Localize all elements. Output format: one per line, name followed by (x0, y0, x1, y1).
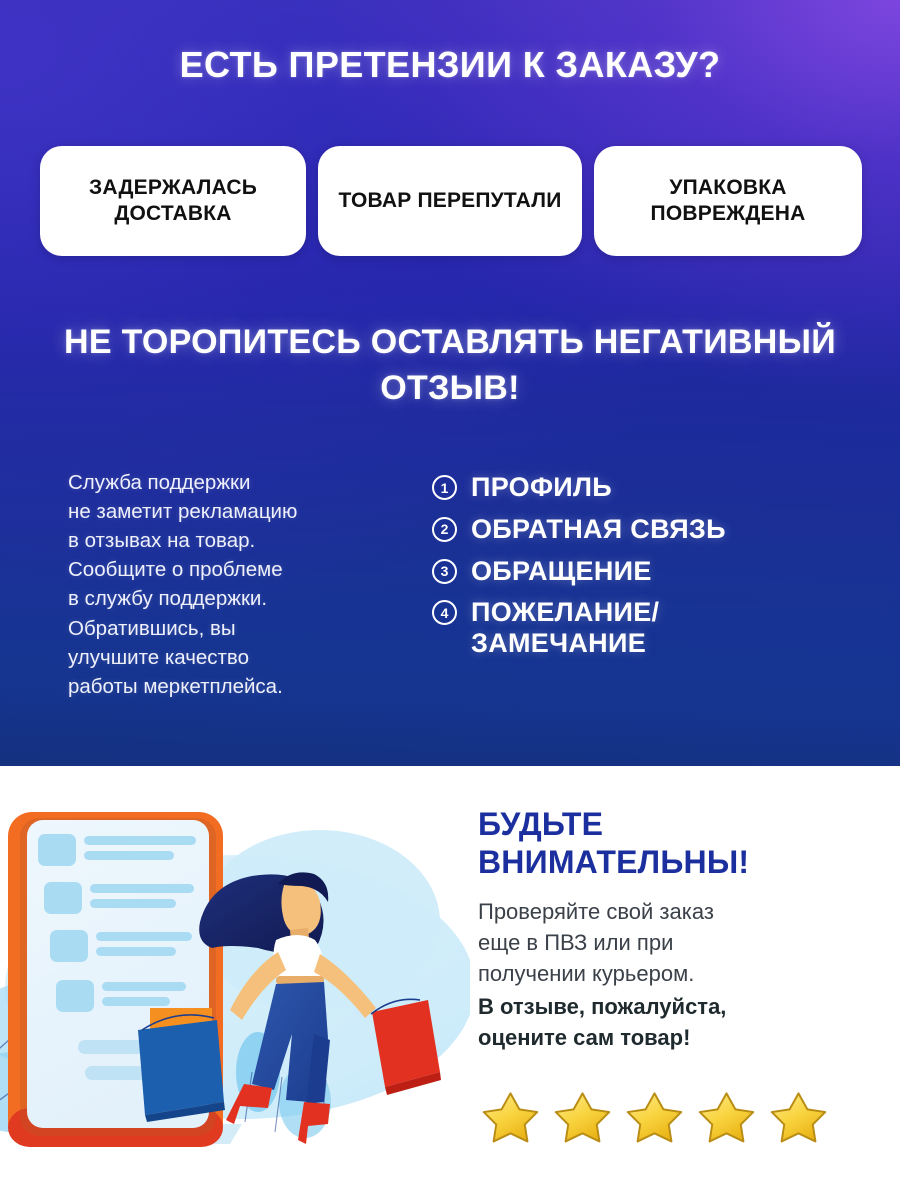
star-icon[interactable] (698, 1088, 755, 1145)
star-icon[interactable] (626, 1088, 683, 1145)
screen-line-3a (96, 932, 192, 941)
step-item-feedback[interactable]: 2 ОБРАТНАЯ СВЯЗЬ (432, 514, 882, 545)
step-number-badge: 2 (432, 517, 457, 542)
screen-thumb-3 (50, 930, 88, 962)
claim-card-wrong-item[interactable]: ТОВАР ПЕРЕПУТАЛИ (318, 146, 582, 256)
support-paragraph: Служба поддержки не заметит рекламацию в… (68, 468, 398, 701)
screen-thumb-4 (56, 980, 94, 1012)
step-number-badge: 4 (432, 600, 457, 625)
blue-shopping-bag (138, 1015, 225, 1122)
bottom-title: БУДЬТЕ ВНИМАТЕЛЬНЫ! (478, 806, 878, 882)
screen-line-2a (90, 884, 194, 893)
screen-thumb-1 (38, 834, 76, 866)
steps-list: 1 ПРОФИЛЬ 2 ОБРАТНАЯ СВЯЗЬ 3 ОБРАЩЕНИЕ 4… (432, 472, 882, 670)
claim-card-delivery-delayed[interactable]: ЗАДЕРЖАЛАСЬ ДОСТАВКА (40, 146, 306, 256)
step-label: ПРОФИЛЬ (471, 472, 612, 503)
poster: ЕСТЬ ПРЕТЕНЗИИ К ЗАКАЗУ? ЗАДЕРЖАЛАСЬ ДОС… (0, 0, 900, 1200)
body-columns: Служба поддержки не заметит рекламацию в… (0, 468, 900, 728)
claim-card-damaged-package[interactable]: УПАКОВКА ПОВРЕЖДЕНА (594, 146, 862, 256)
step-number-badge: 1 (432, 475, 457, 500)
step-item-profile[interactable]: 1 ПРОФИЛЬ (432, 472, 882, 503)
star-icon[interactable] (770, 1088, 827, 1145)
white-panel: БУДЬТЕ ВНИМАТЕЛЬНЫ! Проверяйте свой зака… (0, 766, 900, 1200)
screen-line-1b (84, 851, 174, 860)
bottom-text-block: БУДЬТЕ ВНИМАТЕЛЬНЫ! Проверяйте свой зака… (478, 806, 878, 1054)
blue-panel: ЕСТЬ ПРЕТЕНЗИИ К ЗАКАЗУ? ЗАДЕРЖАЛАСЬ ДОС… (0, 0, 900, 766)
step-label: ПОЖЕЛАНИЕ/ ЗАМЕЧАНИЕ (471, 597, 659, 659)
step-item-request[interactable]: 3 ОБРАЩЕНИЕ (432, 556, 882, 587)
rating-stars[interactable] (482, 1088, 827, 1145)
screen-line-1a (84, 836, 196, 845)
page-title: ЕСТЬ ПРЕТЕНЗИИ К ЗАКАЗУ? (0, 44, 900, 86)
screen-thumb-2 (44, 882, 82, 914)
section-headline: НЕ ТОРОПИТЕСЬ ОСТАВЛЯТЬ НЕГАТИВНЫЙ ОТЗЫВ… (0, 320, 900, 412)
shopper-illustration (0, 772, 470, 1192)
screen-line-4a (102, 982, 186, 991)
step-label: ОБРАЩЕНИЕ (471, 556, 652, 587)
step-label: ОБРАТНАЯ СВЯЗЬ (471, 514, 726, 545)
screen-line-4b (102, 997, 170, 1006)
screen-line-2b (90, 899, 176, 908)
bottom-body: Проверяйте свой заказ еще в ПВЗ или при … (478, 896, 878, 990)
bottom-body-emphasis: В отзыве, пожалуйста, оцените сам товар! (478, 991, 878, 1053)
star-icon[interactable] (554, 1088, 611, 1145)
step-number-badge: 3 (432, 559, 457, 584)
claim-card-row: ЗАДЕРЖАЛАСЬ ДОСТАВКА ТОВАР ПЕРЕПУТАЛИ УП… (40, 146, 862, 256)
step-item-suggestion[interactable]: 4 ПОЖЕЛАНИЕ/ ЗАМЕЧАНИЕ (432, 597, 882, 659)
screen-line-3b (96, 947, 176, 956)
star-icon[interactable] (482, 1088, 539, 1145)
